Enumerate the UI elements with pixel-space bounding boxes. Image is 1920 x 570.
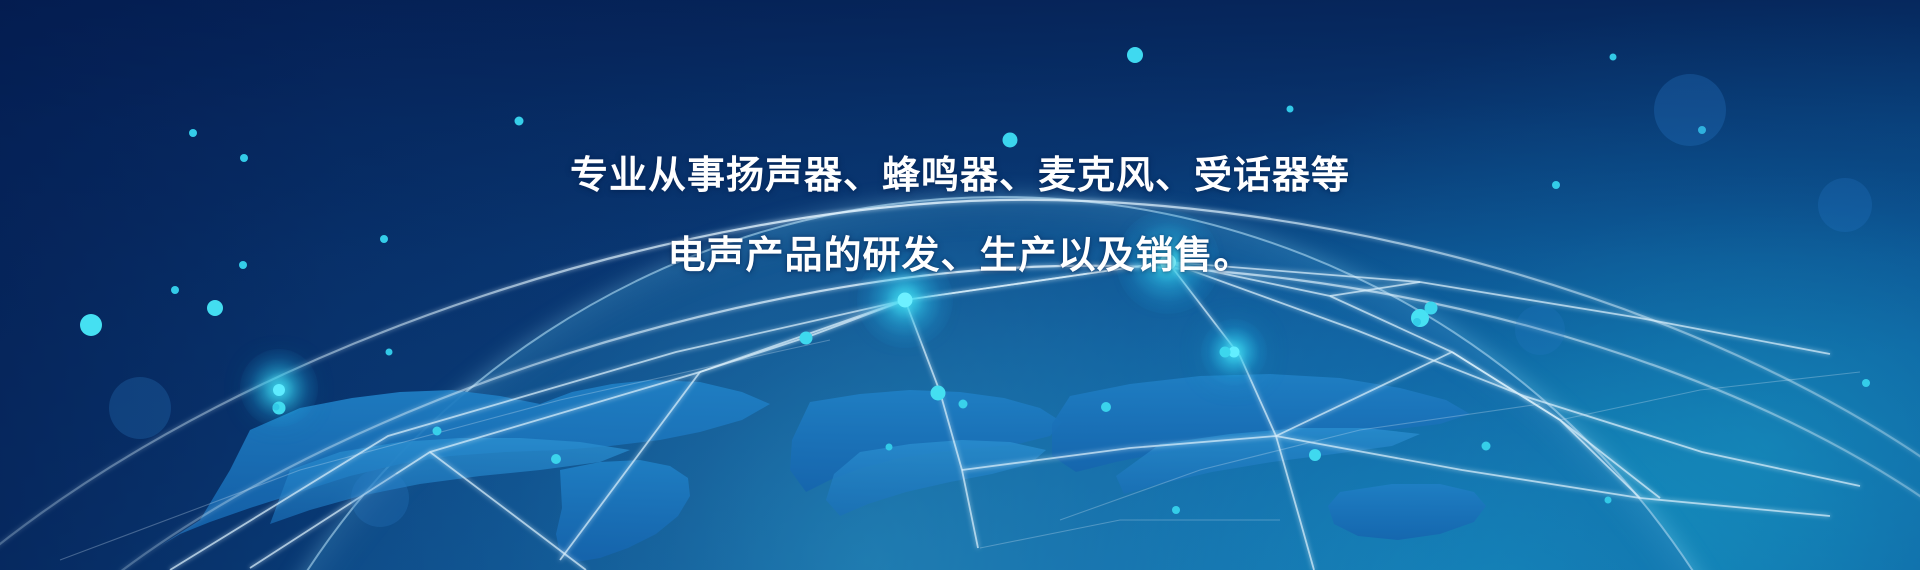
network-node bbox=[273, 404, 280, 411]
network-node bbox=[800, 332, 813, 345]
network-node bbox=[886, 444, 893, 451]
network-node bbox=[273, 384, 285, 396]
headline-block: 专业从事扬声器、蜂鸣器、麦克风、受话器等 电声产品的研发、生产以及销售。 bbox=[0, 156, 1920, 274]
headline-line-1: 专业从事扬声器、蜂鸣器、麦克风、受话器等 bbox=[0, 156, 1920, 194]
network-node bbox=[1309, 449, 1321, 461]
network-node bbox=[1425, 302, 1438, 315]
network-node bbox=[898, 293, 913, 308]
network-node bbox=[171, 286, 179, 294]
network-node bbox=[433, 427, 442, 436]
hero-banner: 专业从事扬声器、蜂鸣器、麦克风、受话器等 电声产品的研发、生产以及销售。 bbox=[0, 0, 1920, 570]
network-node bbox=[80, 314, 102, 336]
network-node bbox=[189, 129, 197, 137]
network-node bbox=[1101, 402, 1111, 412]
decorative-bubble bbox=[1515, 305, 1565, 355]
network-node bbox=[515, 117, 524, 126]
network-node bbox=[1220, 347, 1231, 358]
decorative-bubble bbox=[351, 469, 409, 527]
network-node bbox=[1287, 106, 1294, 113]
network-node bbox=[1862, 379, 1870, 387]
decorative-bubble bbox=[109, 377, 171, 439]
network-node bbox=[386, 349, 393, 356]
network-node bbox=[1003, 133, 1018, 148]
headline-line-2: 电声产品的研发、生产以及销售。 bbox=[0, 236, 1920, 274]
network-chords bbox=[170, 262, 1860, 570]
network-node bbox=[207, 300, 223, 316]
network-node bbox=[1413, 318, 1421, 326]
network-lines-layer bbox=[0, 0, 1920, 570]
network-node bbox=[1172, 506, 1180, 514]
network-node bbox=[1127, 47, 1143, 63]
network-node bbox=[1605, 497, 1612, 504]
network-node bbox=[931, 386, 946, 401]
network-node bbox=[1610, 54, 1617, 61]
network-node bbox=[551, 454, 561, 464]
network-node bbox=[959, 400, 968, 409]
network-node bbox=[1482, 442, 1491, 451]
decorative-bubble bbox=[1654, 74, 1726, 146]
